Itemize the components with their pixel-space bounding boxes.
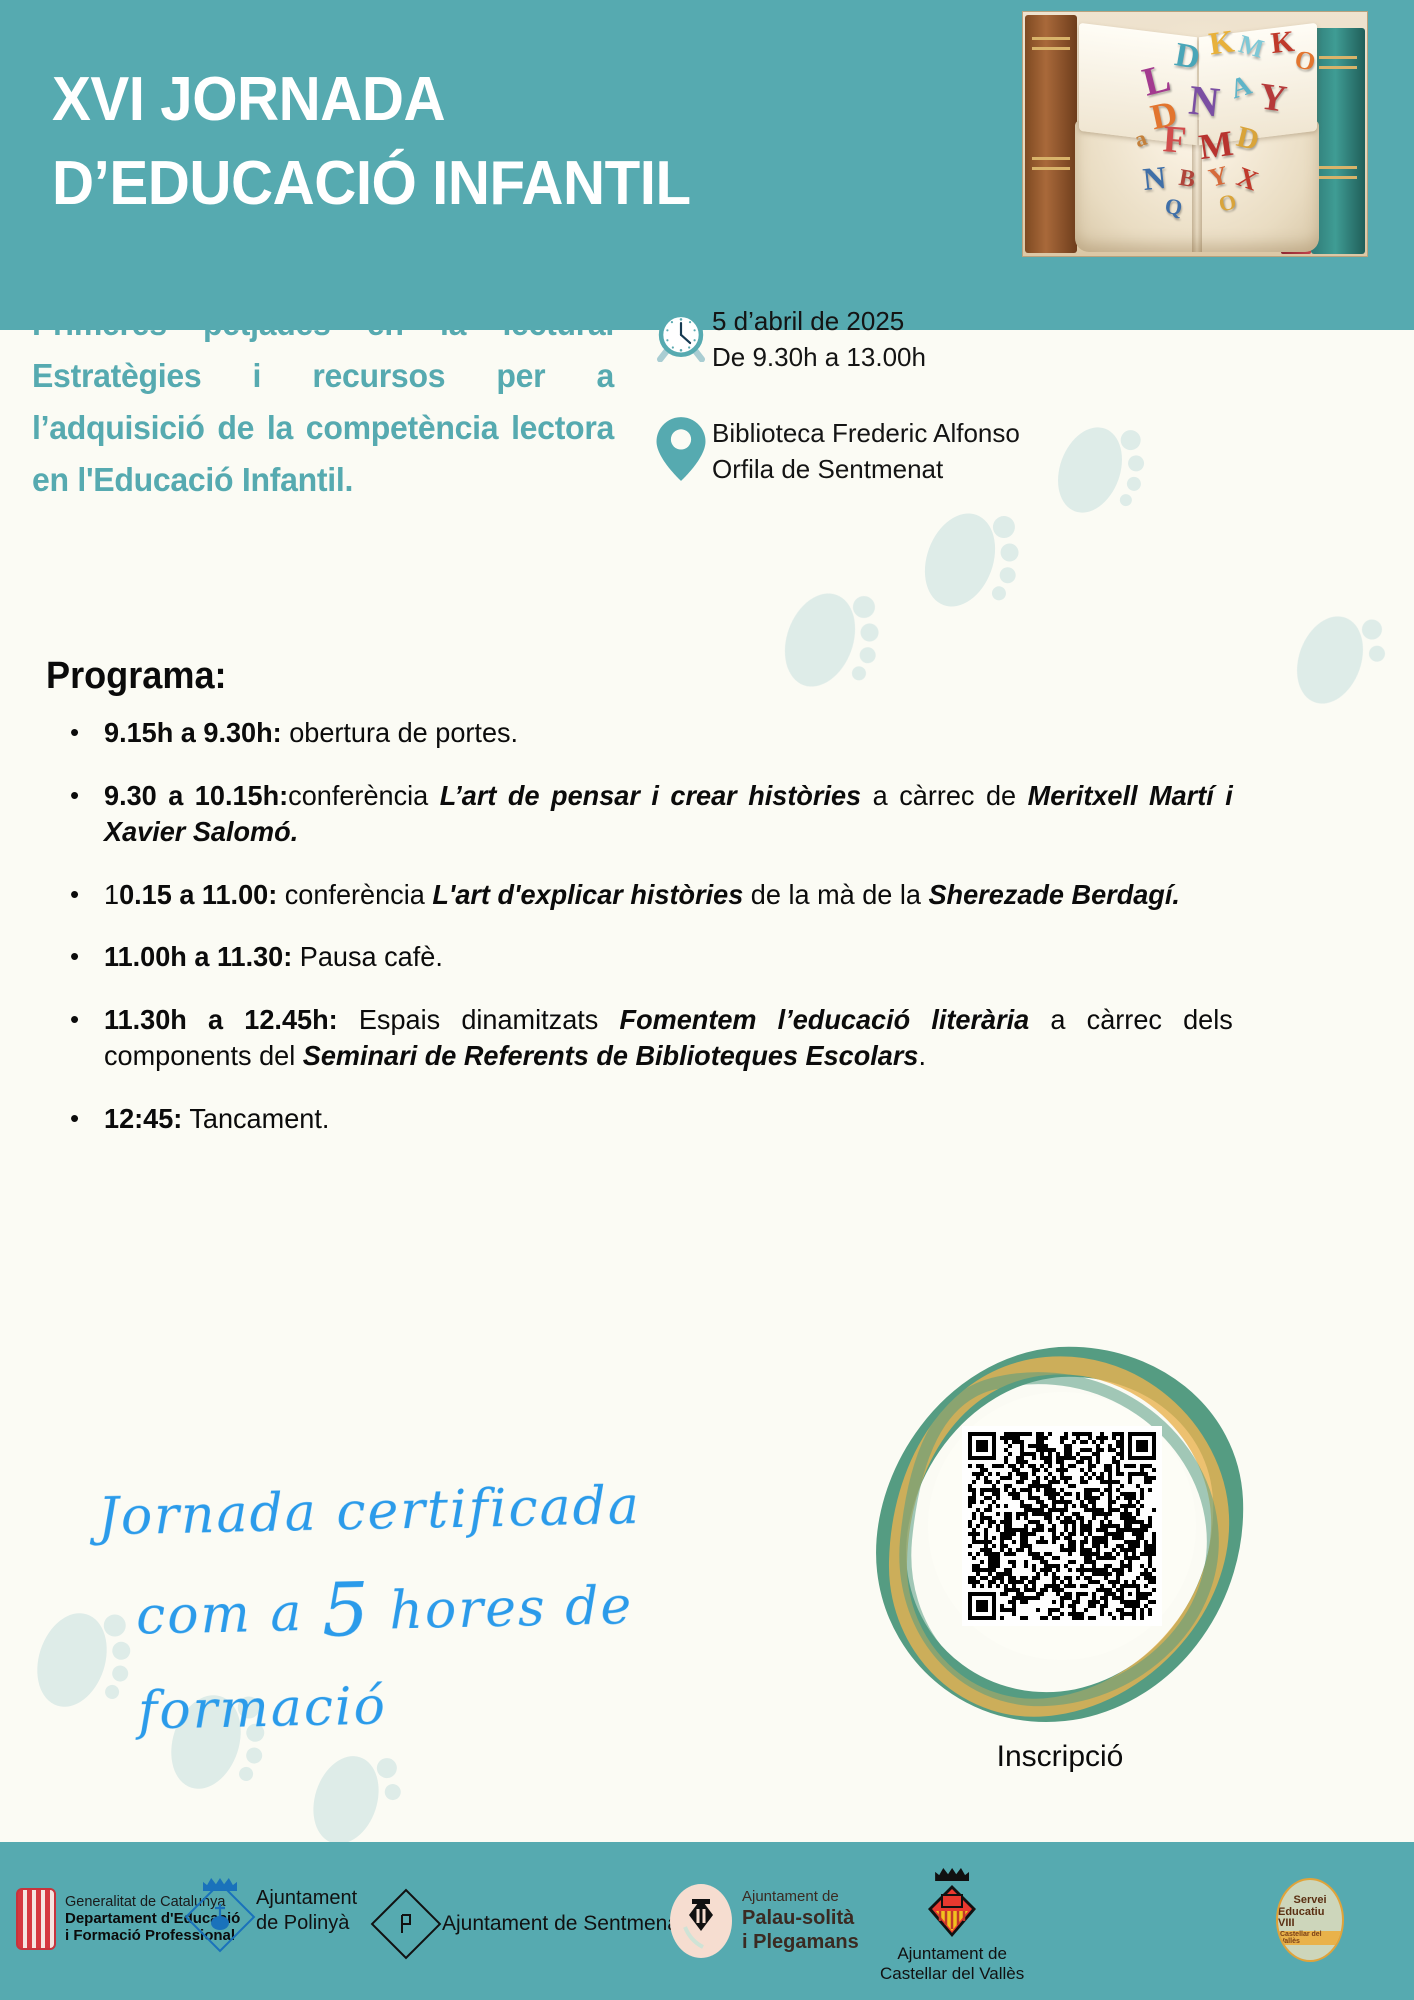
castellar-line-1: Ajuntament de <box>880 1944 1024 1964</box>
venue-name: Biblioteca Frederic Alfonso <box>712 416 1020 452</box>
bullet-icon: • <box>70 939 104 976</box>
ajuntament-de-polinya-logo: Ajuntament de Polinyà <box>194 1878 357 1943</box>
servei-educatiu-badge-icon: Servei Educatiu VIII Castellar del Vallè… <box>1276 1878 1344 1962</box>
servei-line-1: Servei <box>1293 1895 1326 1907</box>
item-0930: 9.30 a 10.15h:conferència L’art de pensa… <box>104 778 1233 851</box>
palau-solita-emblem-icon <box>670 1884 732 1958</box>
certification-line-2: com a 5 hores de formació <box>99 1543 823 1753</box>
ajuntament-de-castellar-del-valles-logo: Ajuntament de Castellar del Vallès <box>880 1868 1024 1985</box>
info-row-location: Biblioteca Frederic Alfonso Orfila de Se… <box>650 412 1110 488</box>
event-info: 5 d’abril de 2025 De 9.30h a 13.00h Bibl… <box>650 300 1110 524</box>
open-book-with-flying-letters-image: L D K M K O D N A Y a F M D N B Y X Q O <box>1022 11 1368 257</box>
subtitle-text: Primeres petjades en la lectura. Estratè… <box>32 298 614 507</box>
event-date: 5 d’abril de 2025 <box>712 304 926 340</box>
ajuntament-de-sentmenat-logo: Ajuntament de Sentmenat <box>380 1898 685 1950</box>
certification-line-1: Jornada certificada <box>97 1476 641 1547</box>
qr-caption: Inscripció <box>872 1740 1248 1774</box>
bullet-icon: • <box>70 778 104 851</box>
location-pin-icon <box>650 412 712 482</box>
bullet-icon: • <box>70 1101 104 1138</box>
castellar-shield-icon <box>924 1881 980 1941</box>
sentmenat-emblem-icon <box>396 1911 416 1937</box>
event-time: De 9.30h a 13.00h <box>712 340 926 376</box>
header-band: XVI JORNADA D’EDUCACIÓ INFANTIL L D K M … <box>0 0 1414 330</box>
info-row-datetime: 5 d’abril de 2025 De 9.30h a 13.00h <box>650 300 1110 376</box>
castellar-line-2: Castellar del Vallès <box>880 1964 1024 1984</box>
ajuntament-de-palau-solita-i-plegamans-logo: Ajuntament de Palau-solità i Plegamans <box>670 1884 859 1958</box>
venue-city: Orfila de Sentmenat <box>712 452 1020 488</box>
polinya-line-2: de Polinyà <box>256 1911 357 1936</box>
programa-list: •9.15h a 9.30h: obertura de portes.•9.30… <box>70 715 1250 1164</box>
crown-icon <box>935 1868 969 1881</box>
alarm-clock-icon <box>650 300 712 362</box>
item-1100: 11.00h a 11.30: Pausa cafè. <box>104 939 1233 976</box>
page-title: XVI JORNADA D’EDUCACIÓ INFANTIL <box>52 58 879 225</box>
item-1015: 10.15 a 11.00: conferència L'art d'expli… <box>104 877 1233 914</box>
servei-line-2: Educatiu VIII <box>1278 1907 1342 1930</box>
servei-line-3: Castellar del Vallès <box>1278 1931 1342 1945</box>
item-1245: 12:45: Tancament. <box>104 1101 1233 1138</box>
title-line-1: XVI JORNADA <box>52 65 445 134</box>
polinya-emblem-icon <box>207 1902 233 1932</box>
bullet-icon: • <box>70 1002 104 1075</box>
bullet-icon: • <box>70 715 104 752</box>
item-1130: 11.30h a 12.45h: Espais dinamitzats Fome… <box>104 1002 1233 1075</box>
title-line-2: D’EDUCACIÓ INFANTIL <box>52 142 879 226</box>
poster: XVI JORNADA D’EDUCACIÓ INFANTIL L D K M … <box>0 0 1414 2000</box>
programa-item: •11.30h a 12.45h: Espais dinamitzats Fom… <box>70 1002 1250 1075</box>
programa-item: •12:45: Tancament. <box>70 1101 1250 1138</box>
qr-code[interactable] <box>962 1426 1162 1626</box>
item-0915: 9.15h a 9.30h: obertura de portes. <box>104 715 1233 752</box>
polinya-line-1: Ajuntament <box>256 1886 357 1911</box>
qr-registration-block[interactable] <box>872 1340 1248 1730</box>
footer-band: Generalitat de Catalunya Departament d'E… <box>0 1842 1414 2000</box>
servei-educatiu-vallesoccidental-logo: Servei Educatiu VIII Castellar del Vallè… <box>1276 1878 1344 1962</box>
palau-line-1: Ajuntament de <box>742 1888 859 1906</box>
sentmenat-label: Ajuntament de Sentmenat <box>442 1911 685 1936</box>
programa-heading: Programa: <box>46 655 227 698</box>
bullet-icon: • <box>70 877 104 914</box>
programa-item: •9.15h a 9.30h: obertura de portes. <box>70 715 1250 752</box>
palau-line-3: i Plegamans <box>742 1930 859 1954</box>
programa-item: •11.00h a 11.30: Pausa cafè. <box>70 939 1250 976</box>
certification-hours-number: 5 <box>321 1566 372 1653</box>
catalunya-flag-icon <box>16 1888 56 1950</box>
programa-item: •9.30 a 10.15h:conferència L’art de pens… <box>70 778 1250 851</box>
palau-line-2: Palau-solità <box>742 1906 859 1930</box>
programa-item: •10.15 a 11.00: conferència L'art d'expl… <box>70 877 1250 914</box>
certification-note: Jornada certificada com a 5 hores de for… <box>97 1462 823 1753</box>
